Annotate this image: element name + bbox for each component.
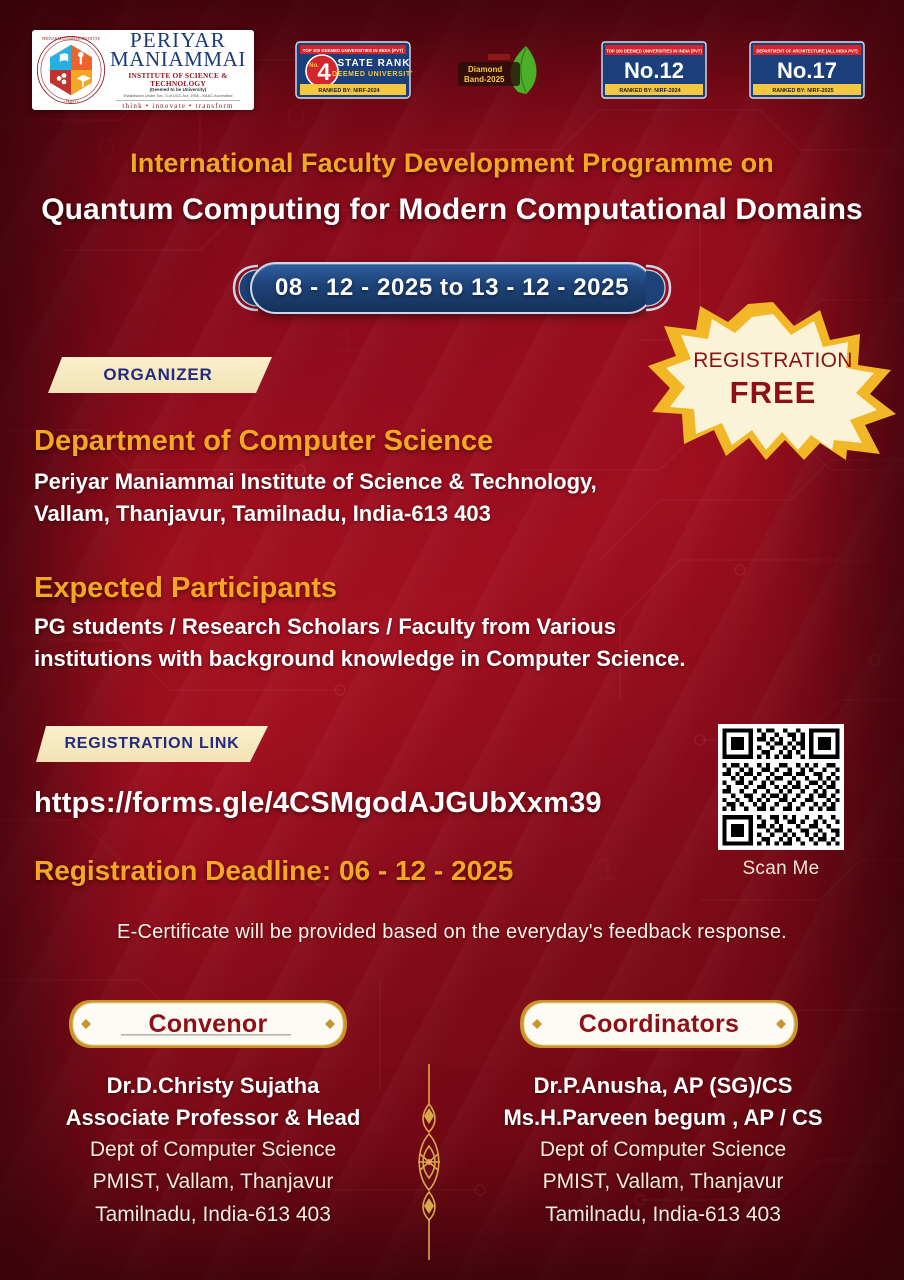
badge4-top-line: TOP 100 DEEMED UNIVERSITIES IN INDIA (PV… [303,48,404,53]
convenor-plaque: Convenor [65,998,351,1050]
header-logos: PERIYAR MANIAMMAI INSTITUTE • PMIST • PE… [0,26,904,118]
convenor-name: Dr.D.Christy Sujatha [18,1070,408,1102]
institution-emblem-icon: PERIYAR MANIAMMAI INSTITUTE • PMIST • [36,35,106,105]
svg-text:RANKED BY: NIRF-2024: RANKED BY: NIRF-2024 [619,88,680,94]
no12-rank-badge-icon: TOP 100 DEEMED UNIVERSITIES IN INDIA (PV… [600,40,708,100]
participants-block: Expected Participants PG students / Rese… [34,572,686,675]
coordinators-dept: Dept of Computer Science [468,1134,858,1167]
organizer-block: Department of Computer Science Periyar M… [34,425,597,530]
starburst-shape-icon [648,300,898,460]
logo-divider [116,100,240,101]
coordinator-name-1: Dr.P.Anusha, AP (SG)/CS [468,1070,858,1102]
organizer-address-line2: Vallam, Thanjavur, Tamilnadu, India-613 … [34,498,597,530]
registration-url[interactable]: https://forms.gle/4CSMgodAJGUbXxm39 [34,787,602,820]
registration-link-tag: REGISTRATION LINK [36,726,268,762]
qr-code-icon[interactable] [718,724,844,850]
svg-text:TOP 100 DEEMED UNIVERSITIES IN: TOP 100 DEEMED UNIVERSITIES IN INDIA (PV… [606,49,702,54]
svg-text:Band-2025: Band-2025 [464,75,505,84]
date-range-text: 08 - 12 - 2025 to 13 - 12 - 2025 [275,274,629,302]
no17-rank-badge-icon: DEPARTMENT OF ARCHITECTURE (ALL INDIA PV… [748,40,866,100]
coordinators-plaque: Coordinators [516,998,802,1050]
qr-code-block[interactable]: Scan Me [718,724,844,880]
svg-text:DEPARTMENT OF ARCHITECTURE (AL: DEPARTMENT OF ARCHITECTURE (ALL INDIA PV… [756,49,858,54]
logo-accreditation-text: Established Under Sec. 3 of UGC Act, 195… [108,94,248,98]
coordinators-campus: PMIST, Vallam, Thanjavur [468,1166,858,1199]
svg-text:1: 1 [596,853,616,891]
coordinator-name-2: Ms.H.Parveen begum , AP / CS [468,1102,858,1134]
coordinators-plaque-shape-icon [516,998,802,1050]
svg-text:1: 1 [336,325,356,363]
svg-text:Diamond: Diamond [468,65,502,74]
convenor-campus: PMIST, Vallam, Thanjavur [18,1166,408,1199]
institution-logo-card: PERIYAR MANIAMMAI INSTITUTE • PMIST • PE… [32,30,254,110]
organizer-department: Department of Computer Science [34,425,597,458]
programme-title-line2: Quantum Computing for Modern Computation… [0,193,904,227]
registration-free-badge: REGISTRATION FREE [648,300,898,460]
registration-deadline: Registration Deadline: 06 - 12 - 2025 [34,855,513,887]
participants-heading: Expected Participants [34,572,686,605]
poster-canvas: 0 0 1 1 [0,0,904,1280]
convenor-designation: Associate Professor & Head [18,1102,408,1134]
organizer-address-line1: Periyar Maniammai Institute of Science &… [34,466,597,498]
organizer-tag: ORGANIZER [48,357,272,393]
convenor-details: Dr.D.Christy Sujatha Associate Professor… [18,1070,408,1231]
svg-text:RANKED BY: NIRF-2025: RANKED BY: NIRF-2025 [772,88,833,94]
svg-text:RANKED BY: NIRF-2024: RANKED BY: NIRF-2024 [318,88,379,94]
date-ribbon: 08 - 12 - 2025 to 13 - 12 - 2025 [232,262,672,314]
convenor-dept: Dept of Computer Science [18,1134,408,1167]
qr-scan-me-label: Scan Me [718,858,844,880]
logo-tagline: think • innovate • transform [108,103,248,110]
svg-text:PERIYAR MANIAMMAI INSTITUTE: PERIYAR MANIAMMAI INSTITUTE [42,37,101,41]
logo-name-line2: MANIAMMAI [108,49,248,70]
coordinators-details: Dr.P.Anusha, AP (SG)/CS Ms.H.Parveen beg… [468,1070,858,1231]
participants-line1: PG students / Research Scholars / Facult… [34,611,686,643]
date-ribbon-body: 08 - 12 - 2025 to 13 - 12 - 2025 [250,262,654,314]
svg-text:DEEMED UNIVERSITY: DEEMED UNIVERSITY [332,71,412,78]
ornamental-divider-icon [412,1062,446,1262]
state-rank-badge-icon: TOP 100 DEEMED UNIVERSITIES IN INDIA (PV… [294,40,412,100]
svg-text:STATE RANK: STATE RANK [338,58,411,69]
certificate-note: E-Certificate will be provided based on … [0,921,904,944]
svg-text:No.12: No.12 [624,58,684,83]
institution-logo-text: PERIYAR MANIAMMAI INSTITUTE OF SCIENCE &… [106,30,248,109]
diamond-band-badge-icon: Diamond Band-2025 [448,40,558,100]
svg-text:• PMIST •: • PMIST • [64,100,80,104]
convenor-plaque-shape-icon [65,998,351,1050]
coordinators-location: Tamilnadu, India-613 403 [468,1199,858,1232]
svg-text:No.17: No.17 [777,58,837,83]
participants-line2: institutions with background knowledge i… [34,643,686,675]
svg-text:4: 4 [317,59,331,86]
programme-title-line1: International Faculty Development Progra… [0,148,904,179]
convenor-location: Tamilnadu, India-613 403 [18,1199,408,1232]
logo-subtitle: INSTITUTE OF SCIENCE & TECHNOLOGY [108,72,248,87]
